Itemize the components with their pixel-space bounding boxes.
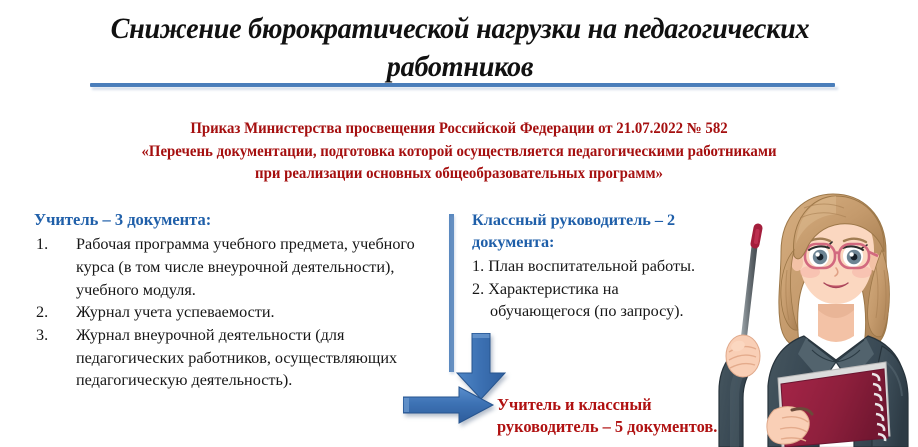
page-title: Снижение бюрократической нагрузки на пед…	[84, 10, 836, 87]
slide-canvas: Снижение бюрократической нагрузки на пед…	[0, 0, 918, 447]
decree-subtitle: Приказ Министерства просвещения Российск…	[41, 118, 877, 186]
teacher-documents-column: Учитель – 3 документа: 1. Рабочая програ…	[34, 209, 434, 392]
decree-line-1: Приказ Министерства просвещения Российск…	[41, 118, 877, 141]
class-teacher-item-2-cont: обучающегося (по запросу).	[472, 300, 722, 323]
list-item-text: Журнал учета успеваемости.	[76, 303, 275, 321]
list-item-text: Рабочая программа учебного предмета, уче…	[76, 235, 415, 298]
list-item: 2. Журнал учета успеваемости.	[34, 301, 434, 324]
teacher-illustration	[686, 186, 918, 447]
list-item: 3. Журнал внеурочной деятельности (для п…	[34, 324, 434, 392]
class-teacher-item-1: 1. План воспитательной работы.	[472, 255, 722, 278]
list-item-marker: 2.	[36, 301, 62, 324]
decree-line-2: «Перечень документации, подготовка котор…	[41, 141, 877, 164]
teacher-documents-heading: Учитель – 3 документа:	[34, 209, 434, 231]
list-item-text: Журнал внеурочной деятельности (для педа…	[76, 326, 397, 389]
teacher-documents-list: 1. Рабочая программа учебного предмета, …	[34, 233, 434, 392]
arrow-right-icon	[403, 386, 495, 424]
decree-line-3: при реализации основных общеобразователь…	[41, 163, 877, 186]
title-underline-rule	[90, 83, 835, 87]
class-teacher-documents-heading: Классный руководитель – 2 документа:	[472, 209, 722, 253]
list-item-marker: 3.	[36, 324, 62, 347]
raised-hand	[726, 335, 760, 377]
list-item-marker: 1.	[36, 233, 62, 256]
class-teacher-documents-column: Классный руководитель – 2 документа: 1. …	[472, 209, 722, 323]
dashed-divider	[449, 214, 454, 372]
class-teacher-item-2: 2. Характеристика на	[472, 278, 722, 301]
list-item: 1. Рабочая программа учебного предмета, …	[34, 233, 434, 301]
